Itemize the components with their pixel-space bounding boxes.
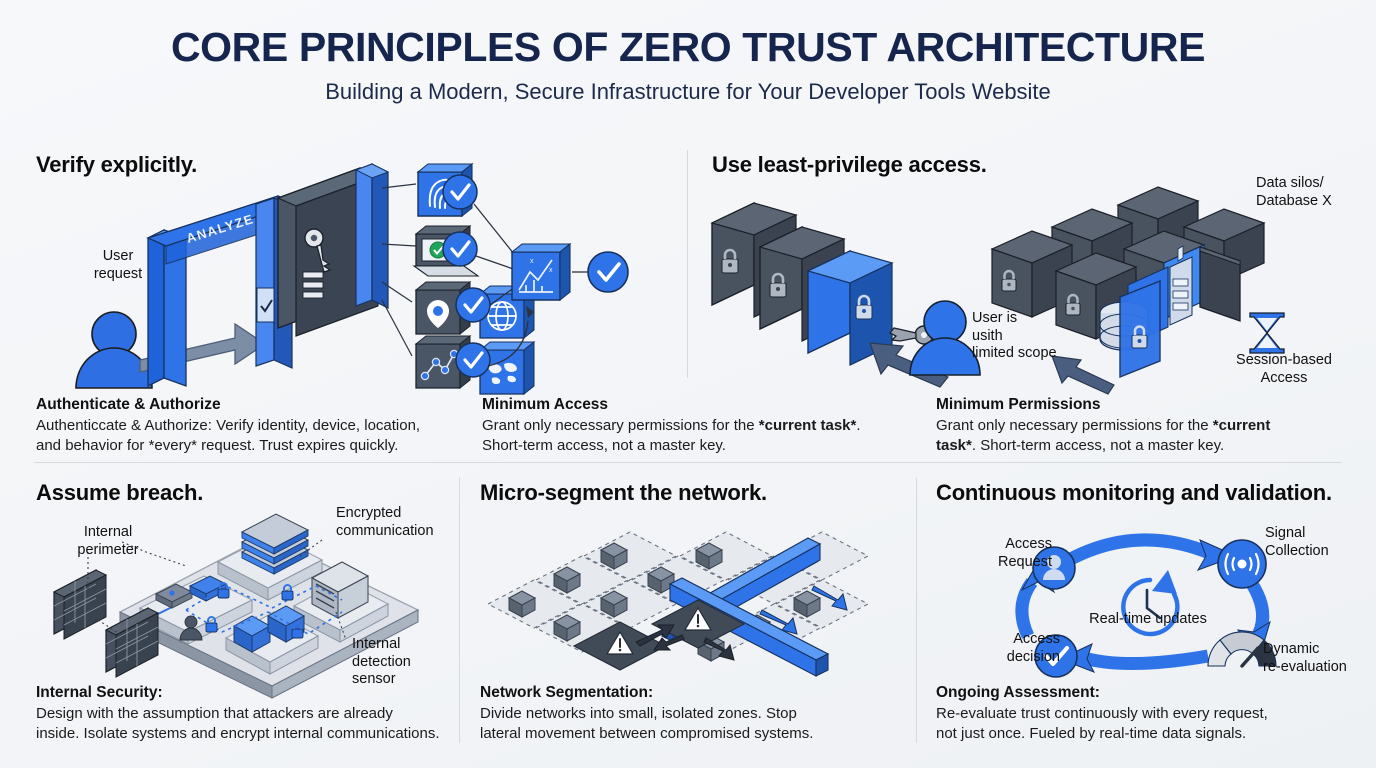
panel-continuous-monitoring: Continuous monitoring and validation. [936,480,1332,506]
user-is-line2: usith [972,328,1102,346]
access-request-line1: Access [952,536,1052,554]
signal-collection-node [1218,540,1266,588]
access-decision-line1: Access [960,631,1060,649]
caption-network-segmentation: Network Segmentation: Divide networks in… [480,684,900,745]
access-request-label: Access Request [952,536,1052,571]
caption-heading: Minimum Access [482,396,902,414]
internal-perimeter-line1: Internal [58,524,158,542]
internal-perimeter-wall-1 [54,570,106,639]
caption-minimum-permissions: Minimum Permissions Grant only necessary… [936,396,1304,457]
internal-perimeter-label: Internal perimeter [58,524,158,559]
caption-heading: Authenticate & Authorize [36,396,466,414]
divider-horizontal-main [34,462,1342,463]
caption-line-1: Re-evaluate trust continuously with ever… [936,704,1356,724]
internal-detection-sensor-label: Internal detection sensor [352,636,462,689]
signal-collection-label: Signal Collection [1265,525,1375,560]
user-is-line1: User is [972,310,1102,328]
caption-line-2: and behavior for *every* request. Trust … [36,436,466,456]
check-badge-2 [443,232,477,266]
caption-line-2: Short-term access, not a master key. [482,436,902,456]
check-badge-1 [443,175,477,209]
detection-line2: detection [352,654,462,672]
data-silos-label: Data silos/ Database X [1256,175,1376,210]
access-decision-label: Access decision [960,631,1060,666]
user-request-label: User request [78,248,158,283]
caption-line-2: lateral movement between compromised sys… [480,724,900,744]
caption-heading: Network Segmentation: [480,684,900,702]
check-badge-3 [456,288,490,322]
caption-bold-2: task* [936,437,972,454]
user-limited-scope-label: User is usith limited scope [972,310,1102,363]
encrypted-communication-label: Encrypted communication [336,505,471,540]
real-time-updates-label: Real-time updates [1078,611,1218,629]
user-icon [76,312,152,388]
encrypted-line1: Encrypted [336,505,471,523]
analyze-gateway: ANALYZE [148,196,296,386]
caption-post: . Short-term access, not a master key. [972,437,1224,454]
caption-line-1: Grant only necessary permissions for the… [482,416,902,436]
risk-decision-tile: x x [512,244,570,300]
check-badge-final [588,252,628,292]
user-is-line3: limited scope [972,345,1102,363]
caption-authenticate-authorize: Authenticate & Authorize Authenticcate &… [36,396,466,457]
panel-heading-least-privilege: Use least-privilege access. [712,152,987,178]
dynamic-reevaluation-label: Dynamic re-evaluation [1263,641,1376,676]
hourglass-icon [1250,313,1284,353]
page-title: CORE PRINCIPLES OF ZERO TRUST ARCHITECTU… [0,26,1376,69]
caption-line-2: inside. Isolate systems and encrypt inte… [36,724,466,744]
svg-text:x: x [549,267,553,274]
signal-line2: Collection [1265,543,1375,561]
session-line2: Access [1222,370,1346,388]
caption-pre: Grant only necessary permissions for the [936,417,1213,434]
caption-internal-security: Internal Security: Design with the assum… [36,684,466,745]
cycle-arrow-bottom [1060,644,1208,672]
access-decision-line2: decision [960,649,1060,667]
caption-heading: Internal Security: [36,684,466,702]
dynamic-line1: Dynamic [1263,641,1376,659]
caption-line-2: not just once. Fueled by real-time data … [936,724,1356,744]
detection-line1: Internal [352,636,462,654]
infographic-page: CORE PRINCIPLES OF ZERO TRUST ARCHITECTU… [0,0,1376,768]
caption-line-1: Authenticcate & Authorize: Verify identi… [36,416,466,436]
access-request-line2: Request [952,554,1052,572]
caption-line-1: Divide networks into small, isolated zon… [480,704,900,724]
panel-heading-continuous-monitoring: Continuous monitoring and validation. [936,480,1332,506]
caption-bold-1: *current [1213,417,1271,434]
divider-vertical-top [687,150,688,378]
caption-pre: Grant only necessary permissions for the [482,417,759,434]
micro-segment-illustration [476,518,906,678]
scene-micro-segment [476,518,906,678]
data-silos-line1: Data silos/ [1256,175,1376,193]
session-based-access-label: Session-based Access [1222,352,1346,387]
divider-vertical-bottom-right [916,478,917,743]
panel-micro-segment: Micro-segment the network. [480,480,767,506]
data-silos-line2: Database X [1256,193,1376,211]
header: CORE PRINCIPLES OF ZERO TRUST ARCHITECTU… [0,0,1376,105]
caption-post: . [856,417,860,434]
svg-text:x: x [530,258,534,265]
encrypted-line2: communication [336,523,471,541]
internal-perimeter-line2: perimeter [58,542,158,560]
verification-pillar [356,164,388,308]
caption-line-1: Design with the assumption that attacker… [36,704,466,724]
caption-heading: Ongoing Assessment: [936,684,1356,702]
caption-heading: Minimum Permissions [936,396,1304,414]
internal-perimeter-wall-2 [106,608,158,677]
caption-ongoing-assessment: Ongoing Assessment: Re-evaluate trust co… [936,684,1356,745]
dynamic-line2: re-evaluation [1263,659,1376,677]
panel-least-privilege: Use least-privilege access. [712,152,987,178]
check-badge-4 [456,343,490,377]
user-request-line2: request [78,266,158,284]
user-request-line1: User [78,248,158,266]
caption-bold: *current task* [759,417,857,434]
page-subtitle: Building a Modern, Secure Infrastructure… [0,79,1376,105]
signal-line1: Signal [1265,525,1375,543]
caption-minimum-access: Minimum Access Grant only necessary perm… [482,396,902,457]
panel-heading-micro-segment: Micro-segment the network. [480,480,767,506]
session-line1: Session-based [1222,352,1346,370]
realtime-text: Real-time updates [1078,611,1218,629]
